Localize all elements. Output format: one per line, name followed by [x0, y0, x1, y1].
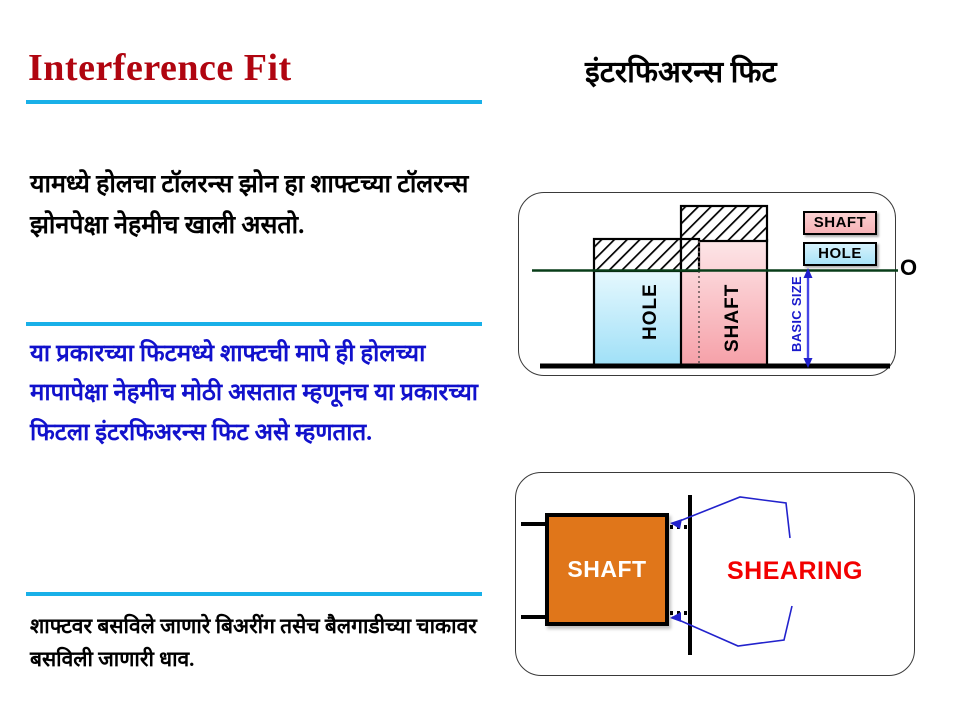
shearing-diagram-graphic [0, 0, 960, 720]
shaft-block: SHAFT [545, 513, 669, 626]
slide-root: Interference Fit इंटरफिअरन्स फिट यामध्ये… [0, 0, 960, 720]
shaft-block-label: SHAFT [549, 517, 665, 622]
shearing-label: SHEARING [727, 557, 863, 586]
